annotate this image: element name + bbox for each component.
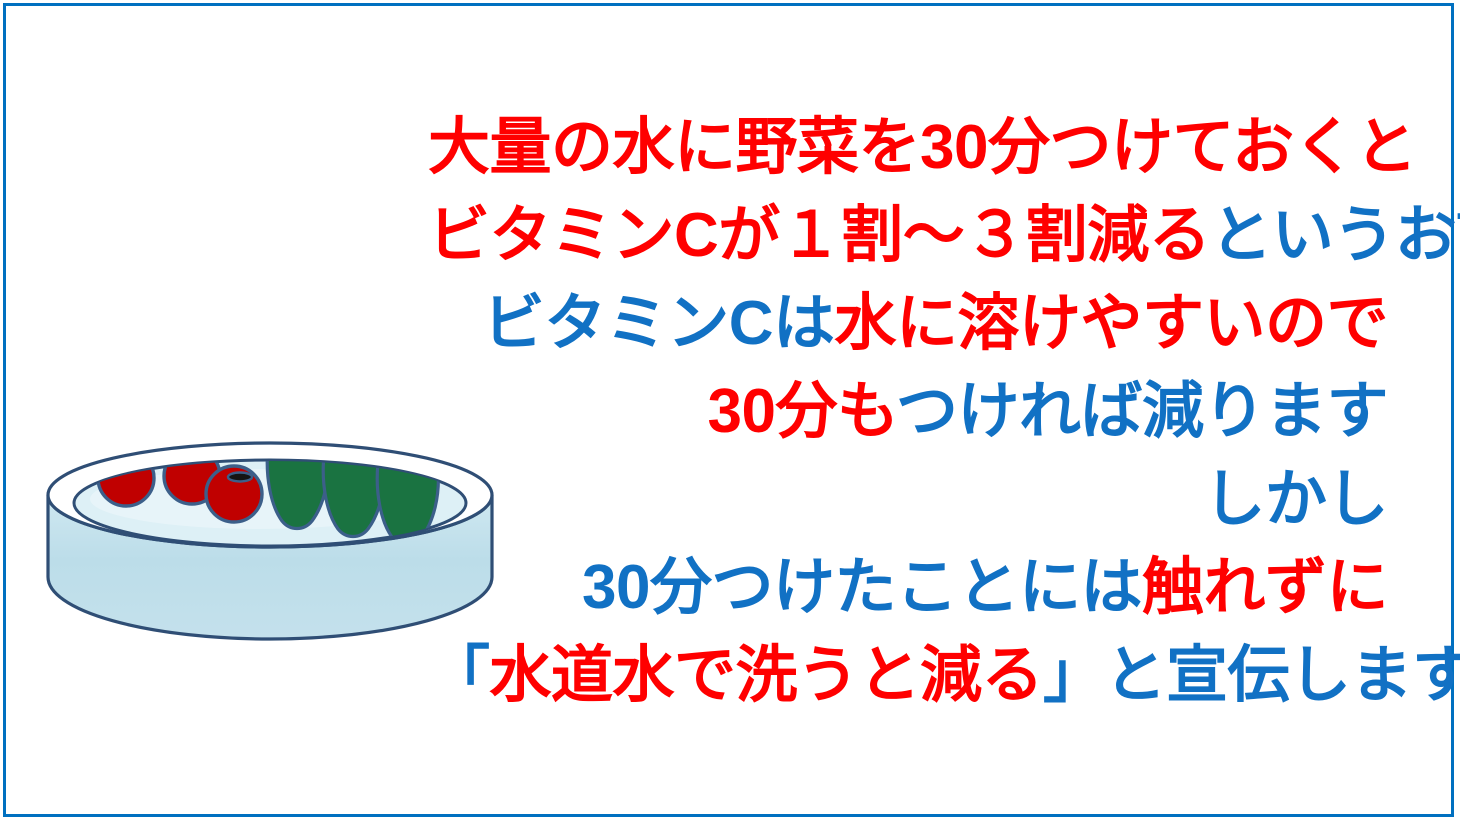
text-line-1: 大量の水に野菜を30分つけておくと bbox=[428, 104, 1388, 192]
text-run-7-3: 」と宣伝します bbox=[1043, 641, 1460, 710]
text-run-2-1: ビタミンCが１割～３割減る bbox=[428, 201, 1210, 270]
text-run-2-2: というお話 bbox=[1210, 201, 1460, 270]
tomato-stem-3 bbox=[228, 473, 252, 482]
text-run-5-1: しかし bbox=[1203, 465, 1388, 534]
text-run-3-2: 水に溶けやすいので bbox=[834, 289, 1388, 358]
text-line-5: しかし bbox=[428, 456, 1388, 544]
text-line-7: 「水道水で洗うと減る」と宣伝します bbox=[428, 632, 1388, 720]
text-line-4: 30分もつければ減ります bbox=[428, 368, 1388, 456]
text-line-2: ビタミンCが１割～３割減るというお話 bbox=[428, 192, 1388, 280]
slide-text-block: 大量の水に野菜を30分つけておくと ビタミンCが１割～３割減るというお話 ビタミ… bbox=[428, 104, 1388, 720]
text-run-3-1: ビタミンCは bbox=[483, 289, 835, 358]
text-run-7-1: 「 bbox=[428, 641, 490, 710]
text-run-6-2: 触れずに bbox=[1142, 553, 1388, 622]
slide-canvas: 大量の水に野菜を30分つけておくと ビタミンCが１割～３割減るというお話 ビタミ… bbox=[0, 0, 1460, 823]
text-run-7-2: 水道水で洗うと減る bbox=[490, 641, 1044, 710]
text-line-6: 30分つけたことには触れずに bbox=[428, 544, 1388, 632]
text-run-4-1: 30分も bbox=[708, 377, 896, 446]
text-run-4-2: つければ減ります bbox=[896, 377, 1388, 446]
tomato-3 bbox=[206, 466, 262, 522]
text-run-1-1: 大量の水に野菜を30分つけておくと bbox=[428, 113, 1417, 182]
text-line-3: ビタミンCは水に溶けやすいので bbox=[428, 280, 1388, 368]
text-run-6-1: 30分つけたことには bbox=[582, 553, 1142, 622]
